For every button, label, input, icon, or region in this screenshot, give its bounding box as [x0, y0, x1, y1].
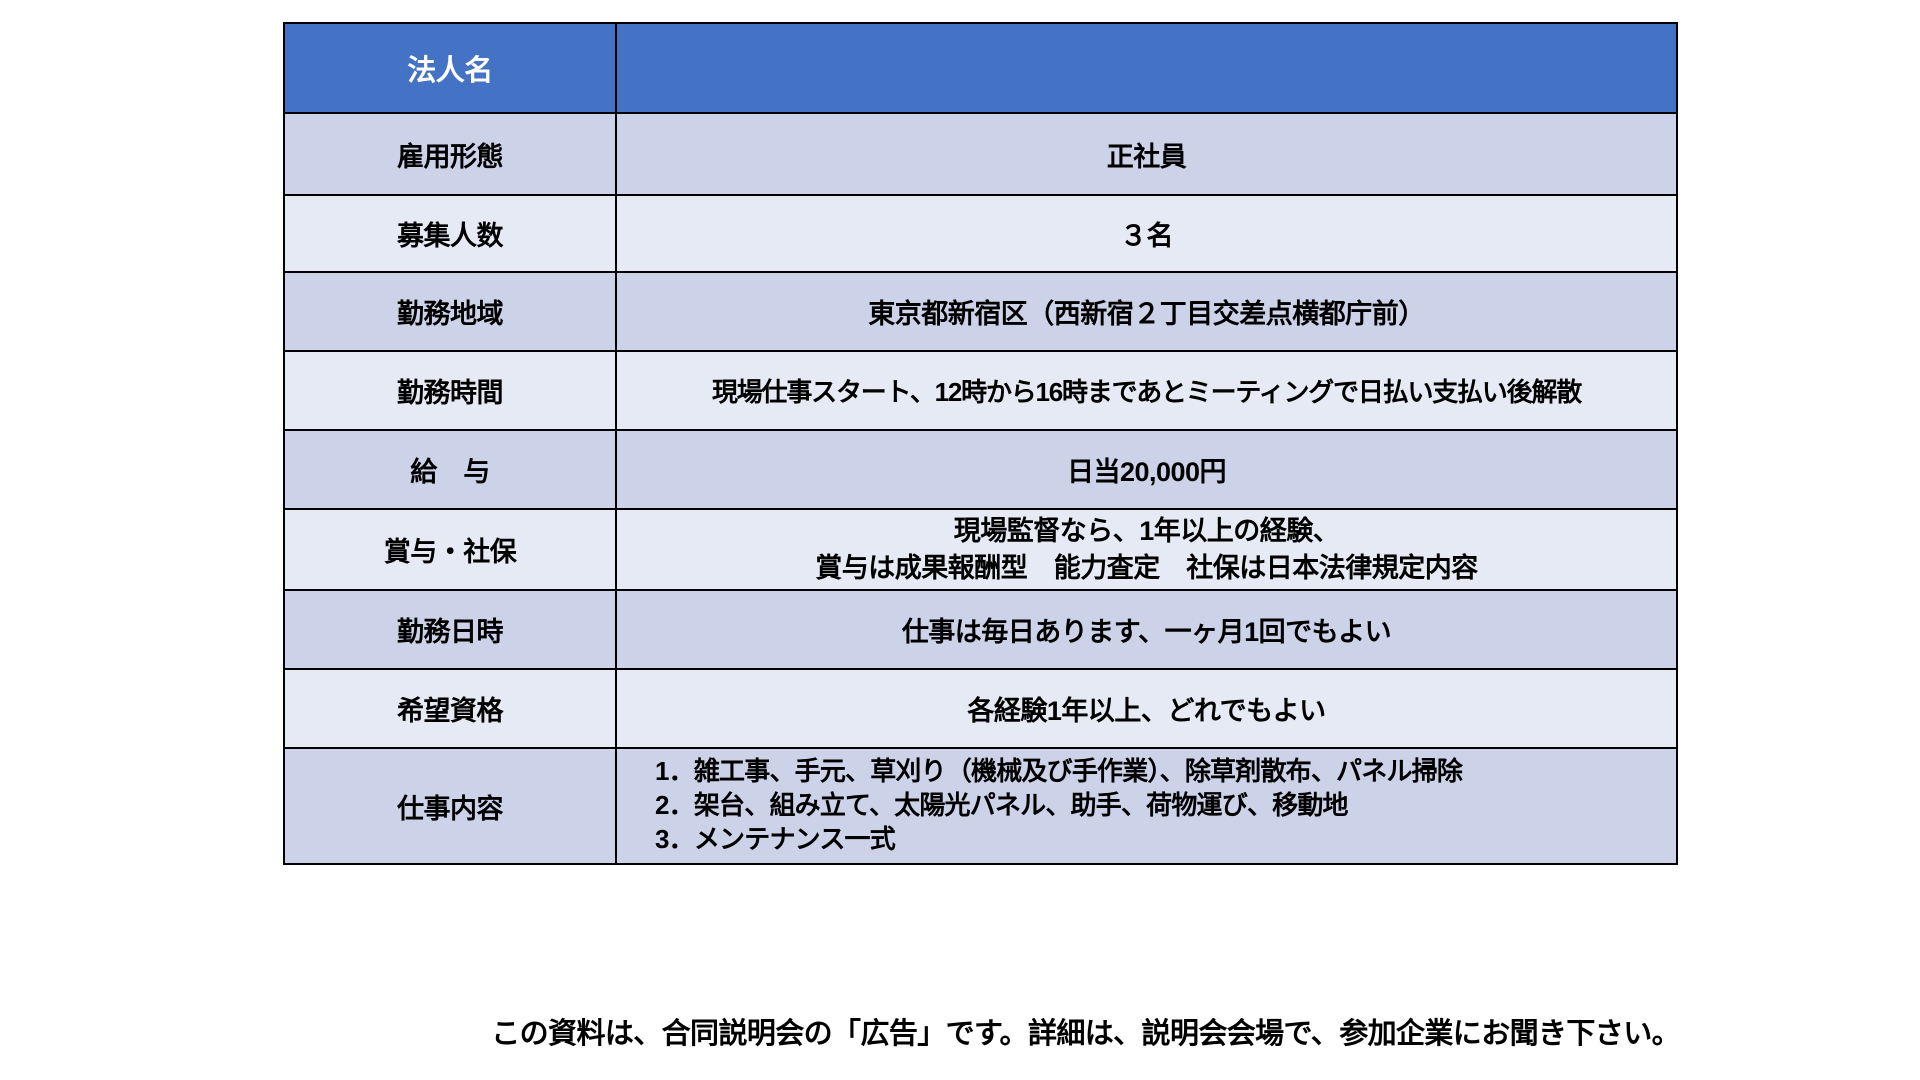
row-label-work-area: 勤務地域 — [284, 272, 616, 351]
duty-line-3: 3．メンテナンス一式 — [655, 823, 1670, 857]
row-label-work-days: 勤務日時 — [284, 590, 616, 669]
duty-line-2: 2．架台、組み立て、太陽光パネル、助手、荷物運び、移動地 — [655, 789, 1670, 823]
row-label-employment-type: 雇用形態 — [284, 113, 616, 195]
row-label-bonus-insurance: 賞与・社保 — [284, 509, 616, 590]
footer-disclaimer-note: この資料は、合同説明会の「広告」です。詳細は、説明会会場で、参加企業にお聞き下さ… — [0, 1010, 1680, 1052]
table-row-salary: 給 与 日当20,000円 — [284, 430, 1677, 509]
slide-page: 法人名 雇用形態 正社員 募集人数 ３名 勤務地域 東京都新宿区（西新宿２丁目交… — [0, 0, 1920, 1080]
row-value-work-hours: 現場仕事スタート、12時から16時まであとミーティングで日払い支払い後解散 — [616, 351, 1677, 430]
table-row-qualifications: 希望資格 各経験1年以上、どれでもよい — [284, 669, 1677, 748]
table-row-employment-type: 雇用形態 正社員 — [284, 113, 1677, 195]
table-row-bonus-insurance: 賞与・社保 現場監督なら、1年以上の経験、 賞与は成果報酬型 能力査定 社保は日… — [284, 509, 1677, 590]
row-value-qualifications: 各経験1年以上、どれでもよい — [616, 669, 1677, 748]
row-label-job-duties: 仕事内容 — [284, 748, 616, 864]
bonus-line-1: 現場監督なら、1年以上の経験、 — [623, 513, 1670, 549]
duty-line-1: 1．雑工事、手元、草刈り（機械及び手作業）、除草剤散布、パネル掃除 — [655, 755, 1670, 789]
header-label-company-name: 法人名 — [284, 23, 616, 113]
table-row-work-hours: 勤務時間 現場仕事スタート、12時から16時まであとミーティングで日払い支払い後… — [284, 351, 1677, 430]
row-value-salary: 日当20,000円 — [616, 430, 1677, 509]
table-row-headcount: 募集人数 ３名 — [284, 195, 1677, 272]
row-value-work-area: 東京都新宿区（西新宿２丁目交差点横都庁前） — [616, 272, 1677, 351]
row-value-work-days: 仕事は毎日あります、一ヶ月1回でもよい — [616, 590, 1677, 669]
row-value-job-duties: 1．雑工事、手元、草刈り（機械及び手作業）、除草剤散布、パネル掃除 2．架台、組… — [616, 748, 1677, 864]
table-row-job-duties: 仕事内容 1．雑工事、手元、草刈り（機械及び手作業）、除草剤散布、パネル掃除 2… — [284, 748, 1677, 864]
row-label-work-hours: 勤務時間 — [284, 351, 616, 430]
bonus-line-2: 賞与は成果報酬型 能力査定 社保は日本法律規定内容 — [623, 550, 1670, 586]
table-row-work-area: 勤務地域 東京都新宿区（西新宿２丁目交差点横都庁前） — [284, 272, 1677, 351]
header-value-company-name — [616, 23, 1677, 113]
row-label-salary: 給 与 — [284, 430, 616, 509]
job-posting-table: 法人名 雇用形態 正社員 募集人数 ３名 勤務地域 東京都新宿区（西新宿２丁目交… — [283, 22, 1678, 865]
row-value-employment-type: 正社員 — [616, 113, 1677, 195]
row-value-bonus-insurance: 現場監督なら、1年以上の経験、 賞与は成果報酬型 能力査定 社保は日本法律規定内… — [616, 509, 1677, 590]
table-row-work-days: 勤務日時 仕事は毎日あります、一ヶ月1回でもよい — [284, 590, 1677, 669]
row-label-qualifications: 希望資格 — [284, 669, 616, 748]
row-label-headcount: 募集人数 — [284, 195, 616, 272]
job-posting-table-container: 法人名 雇用形態 正社員 募集人数 ３名 勤務地域 東京都新宿区（西新宿２丁目交… — [283, 22, 1676, 865]
row-value-headcount: ３名 — [616, 195, 1677, 272]
table-header-row: 法人名 — [284, 23, 1677, 113]
